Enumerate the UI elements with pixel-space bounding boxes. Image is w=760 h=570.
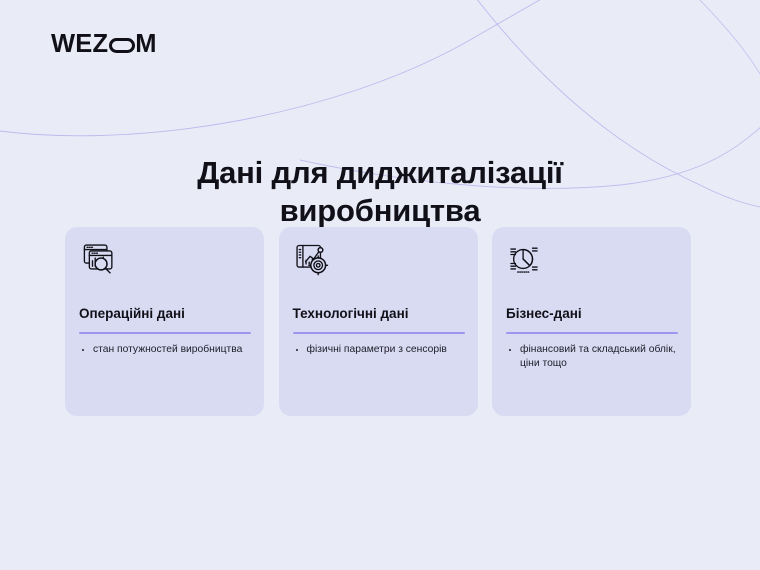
logo-text-part-2: M [135, 32, 156, 58]
page-title: Дані для диджиталізації виробництва [0, 154, 760, 231]
logo-text-part-1: WEZ [51, 32, 108, 58]
window-bar-chart-magnifier-icon [79, 241, 115, 277]
card-bullet-list: фізичні параметри з сенсорів [293, 343, 464, 358]
page-title-line-2: виробництва [0, 192, 760, 230]
card-group: Операційні дані стан потужностей виробни… [65, 227, 691, 416]
report-chart-gear-icon [293, 241, 329, 277]
slide-root: WEZM Дані для диджиталізації виробництва… [0, 0, 760, 570]
card-operational-data[interactable]: Операційні дані стан потужностей виробни… [65, 227, 264, 416]
card-divider [506, 332, 678, 333]
card-divider [79, 332, 251, 333]
card-title: Технологічні дані [293, 306, 464, 322]
card-technological-data[interactable]: Технологічні дані фізичні параметри з се… [279, 227, 478, 416]
list-item: стан потужностей виробництва [79, 343, 250, 358]
card-business-data[interactable]: Бізнес-дані фінансовий та складський обл… [492, 227, 691, 416]
card-title: Операційні дані [79, 306, 250, 322]
list-item: фінансовий та складський облік, ціни тощ… [506, 343, 677, 372]
oval-o-icon [109, 38, 135, 53]
card-title: Бізнес-дані [506, 306, 677, 322]
card-bullet-list: фінансовий та складський облік, ціни тощ… [506, 343, 677, 372]
card-divider [293, 332, 465, 333]
page-title-line-1: Дані для диджиталізації [0, 154, 760, 192]
logo-wordmark: WEZM [51, 32, 157, 58]
pie-chart-brackets-icon [506, 241, 542, 277]
wezom-logo: WEZM [51, 31, 157, 59]
card-bullet-list: стан потужностей виробництва [79, 343, 250, 358]
list-item: фізичні параметри з сенсорів [293, 343, 464, 358]
